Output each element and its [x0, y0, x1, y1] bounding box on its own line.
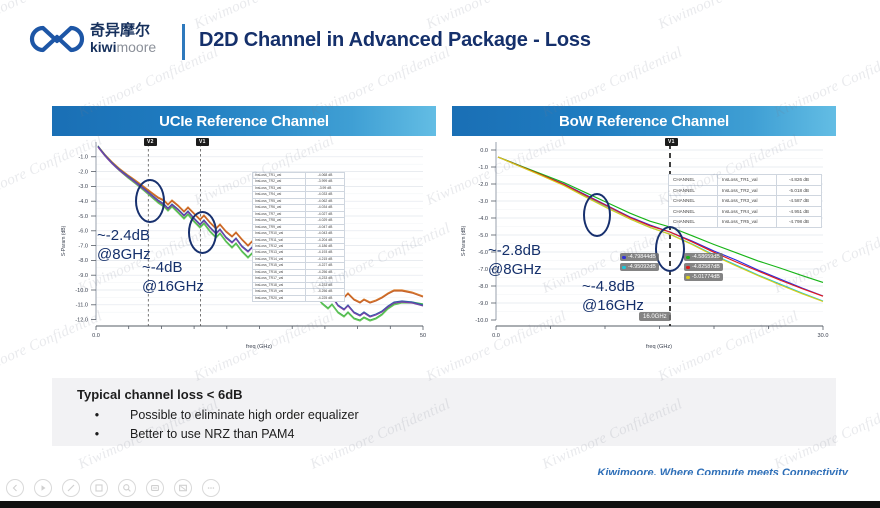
table-row: CHANNELInsLoss_TR1_val-4.826 dB: [669, 175, 822, 186]
x-marker-label-16ghz: 16.0GHz: [639, 312, 671, 321]
table-row: CHANNELInsLoss_TR2_val-5.018 dB: [669, 185, 822, 196]
svg-text:-10.0: -10.0: [475, 318, 488, 324]
summary-bullet-1-text: Possible to eliminate high order equaliz…: [130, 408, 359, 422]
insloss-key: InsLoss_TR20_val: [253, 295, 306, 301]
logo-en-bold: kiwi: [90, 39, 116, 55]
point-label-tr1: -4.79844dB: [620, 253, 659, 261]
svg-text:-3.0: -3.0: [78, 184, 88, 190]
insloss-key: InsLoss_TR2_val: [718, 185, 777, 196]
summary-bullet-2-text: Better to use NRZ than PAM4: [130, 427, 294, 441]
svg-text:0.0: 0.0: [92, 333, 100, 339]
insloss-key: InsLoss_TR4_val: [718, 206, 777, 217]
marker-flag-v1[interactable]: V1: [665, 138, 678, 146]
point-label-tr2: -4.95092dB: [620, 263, 659, 271]
annotation-loss-16ghz: ~-4dB @16GHz: [142, 258, 204, 296]
insloss-value: -4.826 dB: [777, 175, 822, 186]
point-label-tr5-dot: [686, 276, 690, 280]
svg-text:S-Param (dB): S-Param (dB): [461, 225, 467, 256]
table-row: CHANNELInsLoss_TR3_val-4.587 dB: [669, 196, 822, 207]
insertion-loss-table-ucie: InsLoss_TR1_val-4.068 dBInsLoss_TR2_val-…: [252, 172, 345, 302]
table-row: InsLoss_TR20_val-4.225 dB: [253, 295, 345, 301]
svg-text:-1.0: -1.0: [478, 165, 488, 171]
insertion-loss-table-bow: CHANNELInsLoss_TR1_val-4.826 dBCHANNELIn…: [668, 174, 822, 228]
svg-text:-8.0: -8.0: [478, 284, 488, 290]
plot-ucie: -1.0 -2.0 -3.0 -4.0 -5.0 -6.0 -7.0 -8.0 …: [52, 136, 436, 364]
insloss-value: -4.587 dB: [777, 196, 822, 207]
insloss-value: -4.225 dB: [306, 295, 345, 301]
svg-text:-7.0: -7.0: [478, 267, 488, 273]
svg-text:-6.0: -6.0: [78, 229, 88, 235]
svg-text:-9.0: -9.0: [478, 301, 488, 307]
svg-text:-4.0: -4.0: [478, 216, 488, 222]
panel-bow: BoW Reference Channel: [452, 106, 836, 364]
annotation-loss-8ghz: ~-2.8dB @8GHz: [488, 241, 542, 279]
presentation-toolbar: [0, 475, 880, 501]
slide-header: 奇异摩尔 kiwimoore D2D Channel in Advanced P…: [0, 0, 880, 82]
kiwimoore-infinity-logo-icon: [26, 24, 88, 54]
point-label-tr3-dot: [686, 256, 690, 260]
svg-text:-6.0: -6.0: [478, 250, 488, 256]
bullet-dot-icon: •: [92, 408, 102, 422]
annotation-loss-16ghz-value: ~-4.8dB: [582, 277, 644, 296]
annotation-ellipse-8ghz: [583, 193, 611, 237]
grid-icon[interactable]: [90, 479, 108, 497]
insloss-key: InsLoss_TR1_val: [718, 175, 777, 186]
annotation-ellipse-16ghz: [188, 211, 217, 254]
insloss-value: -5.018 dB: [777, 185, 822, 196]
panel-bow-heading: BoW Reference Channel: [452, 106, 836, 136]
channel-label: CHANNEL: [669, 217, 718, 228]
table-row: CHANNELInsLoss_TR5_val-4.798 dB: [669, 217, 822, 228]
annotation-ellipse-16ghz: [655, 226, 685, 272]
annotation-loss-8ghz-freq: @8GHz: [488, 260, 542, 279]
slide: 奇异摩尔 kiwimoore D2D Channel in Advanced P…: [0, 0, 880, 508]
svg-text:-2.0: -2.0: [478, 182, 488, 188]
annotation-loss-16ghz-freq: @16GHz: [142, 277, 204, 296]
channel-label: CHANNEL: [669, 175, 718, 186]
svg-text:S-Param (dB): S-Param (dB): [61, 225, 67, 256]
svg-text:-5.0: -5.0: [478, 233, 488, 239]
svg-text:freq (GHz): freq (GHz): [246, 344, 272, 350]
marker-flag-v1[interactable]: V1: [196, 138, 209, 146]
point-label-tr1-text: -4.79844dB: [628, 254, 656, 260]
annotation-loss-16ghz: ~-4.8dB @16GHz: [582, 277, 644, 315]
svg-text:-10.0: -10.0: [75, 288, 88, 294]
annotation-ellipse-8ghz: [135, 179, 165, 223]
marker-flag-v2[interactable]: V2: [144, 138, 157, 146]
point-label-tr5: -5.01774dB: [684, 273, 723, 281]
pen-icon[interactable]: [62, 479, 80, 497]
svg-text:30.0: 30.0: [818, 333, 829, 339]
logo-wordmark: 奇异摩尔 kiwimoore: [90, 22, 180, 55]
svg-text:-2.0: -2.0: [78, 169, 88, 175]
logo-english-name: kiwimoore: [90, 40, 180, 55]
point-label-tr2-text: -4.95092dB: [628, 264, 656, 270]
point-label-tr1-dot: [622, 256, 626, 260]
panel-ucie: UCIe Reference Channel: [52, 106, 436, 364]
previous-icon[interactable]: [6, 479, 24, 497]
page-title: D2D Channel in Advanced Package - Loss: [199, 29, 591, 52]
annotation-loss-8ghz-value: ~-2.8dB: [488, 241, 542, 260]
svg-text:0.0: 0.0: [492, 333, 500, 339]
channel-label: CHANNEL: [669, 206, 718, 217]
svg-text:-12.0: -12.0: [75, 317, 88, 323]
zoom-icon[interactable]: [118, 479, 136, 497]
annotation-loss-16ghz-freq: @16GHz: [582, 296, 644, 315]
point-label-tr5-text: -5.01774dB: [692, 274, 720, 280]
svg-text:-7.0: -7.0: [78, 243, 88, 249]
svg-text:-3.0: -3.0: [478, 199, 488, 205]
svg-text:-4.0: -4.0: [78, 199, 88, 205]
notes-icon[interactable]: [146, 479, 164, 497]
svg-text:-9.0: -9.0: [78, 273, 88, 279]
svg-text:-5.0: -5.0: [78, 214, 88, 220]
svg-text:-1.0: -1.0: [78, 155, 88, 161]
table-row: CHANNELInsLoss_TR4_val-4.951 dB: [669, 206, 822, 217]
summary-band: Typical channel loss < 6dB • Possible to…: [52, 378, 836, 446]
svg-text:50: 50: [420, 333, 426, 339]
insloss-value: -4.951 dB: [777, 206, 822, 217]
plot-bow: 0.0 -1.0 -2.0 -3.0 -4.0 -5.0 -6.0 -7.0 -…: [452, 136, 836, 364]
title-divider: [182, 24, 185, 60]
kiwimoore-logo: 奇异摩尔 kiwimoore: [26, 22, 176, 66]
svg-text:freq (GHz): freq (GHz): [646, 344, 672, 350]
logo-en-light: moore: [116, 39, 156, 55]
panel-ucie-heading: UCIe Reference Channel: [52, 106, 436, 136]
svg-text:0.0: 0.0: [480, 148, 488, 154]
point-label-tr3-text: -4.58659dB: [692, 254, 720, 260]
channel-label: CHANNEL: [669, 196, 718, 207]
svg-text:-8.0: -8.0: [78, 258, 88, 264]
channel-label: CHANNEL: [669, 185, 718, 196]
point-label-tr4: -4.82587dB: [684, 263, 723, 271]
more-icon[interactable]: [202, 479, 220, 497]
logo-chinese-name: 奇异摩尔: [90, 22, 180, 39]
bullet-dot-icon: •: [92, 427, 102, 441]
annotation-loss-16ghz-value: ~-4dB: [142, 258, 204, 277]
annotation-loss-8ghz-value: ~-2.4dB: [97, 226, 151, 245]
summary-title: Typical channel loss < 6dB: [77, 387, 243, 402]
insloss-key: InsLoss_TR5_val: [718, 217, 777, 228]
svg-text:-11.0: -11.0: [76, 303, 88, 309]
point-label-tr3: -4.58659dB: [684, 253, 723, 261]
point-label-tr4-dot: [686, 266, 690, 270]
insloss-key: InsLoss_TR3_val: [718, 196, 777, 207]
point-label-tr2-dot: [622, 266, 626, 270]
insloss-value: -4.798 dB: [777, 217, 822, 228]
play-icon[interactable]: [34, 479, 52, 497]
point-label-tr4-text: -4.82587dB: [692, 264, 720, 270]
fullscreen-icon[interactable]: [174, 479, 192, 497]
bottom-black-bar: [0, 501, 880, 508]
